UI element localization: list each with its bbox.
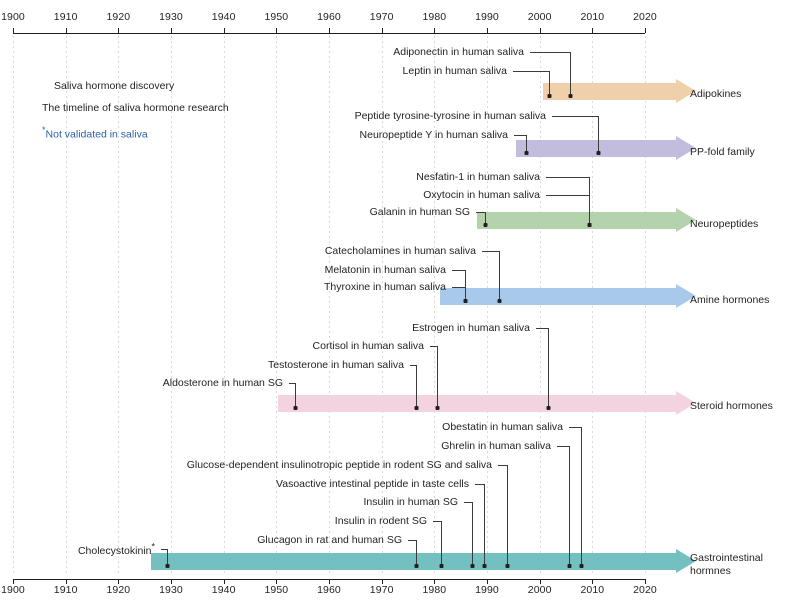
leader-line-horizontal — [557, 446, 569, 447]
timeline-figure: 1900191019201930194019501960197019801990… — [0, 0, 792, 607]
event-marker — [471, 564, 475, 568]
axis-tick-label-2000: 2000 — [528, 584, 552, 596]
event-marker — [415, 406, 419, 410]
category-bar-steroid-hormones — [278, 395, 676, 412]
leader-line-horizontal — [546, 177, 589, 178]
leader-line-horizontal — [476, 212, 485, 213]
axis-tick-label-1900: 1900 — [1, 584, 25, 596]
axis-tick-1950 — [276, 28, 277, 33]
leader-line-vertical — [441, 521, 442, 566]
event-label: Cortisol in human saliva — [0, 340, 424, 352]
leader-line-horizontal — [552, 116, 598, 117]
gridline-2010 — [592, 36, 593, 576]
axis-tick-label-2020: 2020 — [633, 584, 657, 596]
bar-body — [543, 83, 676, 100]
event-marker — [415, 564, 419, 568]
leader-line-vertical — [507, 465, 508, 566]
event-marker — [568, 564, 572, 568]
axis-tick-label-1970: 1970 — [370, 584, 394, 596]
axis-tick-label-1920: 1920 — [106, 584, 130, 596]
axis-tick-2020 — [645, 28, 646, 33]
event-marker — [569, 94, 573, 98]
category-label: Steroid hormones — [690, 400, 773, 413]
event-label: Aldosterone in human SG — [0, 377, 283, 389]
category-bar-gastrointestinal-hormnes — [151, 553, 676, 570]
event-label: Peptide tyrosine-tyrosine in human saliv… — [0, 110, 546, 122]
event-marker — [166, 564, 170, 568]
leader-line-vertical — [569, 446, 570, 566]
axis-tick-label-1950: 1950 — [264, 11, 288, 23]
axis-tick-label-2010: 2010 — [580, 11, 604, 23]
axis-tick-label-1970: 1970 — [370, 11, 394, 23]
axis-tick-1970 — [382, 28, 383, 33]
leader-line-horizontal — [433, 521, 441, 522]
axis-tick-1990 — [487, 28, 488, 33]
leader-line-vertical — [437, 346, 438, 408]
event-marker — [294, 406, 298, 410]
event-label: Cholecystokinin* — [0, 541, 155, 557]
leader-line-horizontal — [452, 287, 465, 288]
bar-body — [151, 553, 676, 570]
event-label: Insulin in rodent SG — [0, 515, 427, 527]
axis-tick-label-2010: 2010 — [580, 584, 604, 596]
axis-tick-label-1980: 1980 — [422, 584, 446, 596]
axis-tick-2010 — [592, 28, 593, 33]
event-label: Vasoactive intestinal peptide in taste c… — [0, 478, 469, 490]
event-label: Ghrelin in human saliva — [0, 440, 551, 452]
event-label: Galanin in human SG — [0, 206, 470, 218]
event-label: Leptin in human saliva — [0, 65, 507, 77]
event-marker — [506, 564, 510, 568]
axis-tick-label-1980: 1980 — [422, 11, 446, 23]
axis-tick-label-1910: 1910 — [54, 11, 78, 23]
event-marker — [483, 564, 487, 568]
leader-line-horizontal — [530, 52, 570, 53]
event-marker — [464, 299, 468, 303]
axis-tick-label-1940: 1940 — [212, 584, 236, 596]
leader-line-vertical — [499, 251, 500, 301]
leader-line-vertical — [472, 502, 473, 566]
leader-line-horizontal — [430, 346, 437, 347]
axis-tick-label-1930: 1930 — [159, 584, 183, 596]
leader-line-horizontal — [536, 328, 548, 329]
event-label: Neuropeptide Y in human saliva — [0, 129, 508, 141]
axis-tick-label-1990: 1990 — [475, 584, 499, 596]
axis-tick-label-1900: 1900 — [1, 11, 25, 23]
axis-tick-1910 — [66, 28, 67, 33]
category-bar-neuropeptides — [477, 212, 676, 229]
axis-tick-label-2020: 2020 — [633, 11, 657, 23]
leader-line-horizontal — [514, 135, 526, 136]
bar-body — [477, 212, 676, 229]
axis-tick-2000 — [540, 28, 541, 33]
event-label: Thyroxine in human saliva — [0, 281, 446, 293]
leader-line-horizontal — [464, 502, 472, 503]
event-label: Testosterone in human saliva — [0, 359, 404, 371]
event-label: Estrogen in human saliva — [0, 322, 530, 334]
category-label: PP-fold family — [690, 146, 755, 159]
leader-line-vertical — [295, 383, 296, 408]
leader-line-vertical — [416, 365, 417, 408]
leader-line-horizontal — [452, 270, 465, 271]
leader-line-horizontal — [498, 465, 507, 466]
event-marker — [440, 564, 444, 568]
leader-line-horizontal — [513, 71, 549, 72]
axis-tick-label-1960: 1960 — [317, 11, 341, 23]
footnote-marker: * — [151, 541, 155, 551]
leader-line-vertical — [598, 116, 599, 153]
leader-line-horizontal — [475, 484, 484, 485]
event-marker — [597, 151, 601, 155]
axis-tick-label-1990: 1990 — [475, 11, 499, 23]
leader-line-vertical — [549, 71, 550, 96]
axis-tick-1920 — [118, 28, 119, 33]
leader-line-vertical — [484, 484, 485, 566]
axis-tick-1960 — [329, 28, 330, 33]
bar-body — [440, 288, 676, 305]
event-marker — [547, 406, 551, 410]
event-marker — [484, 223, 488, 227]
category-bar-adipokines — [543, 83, 676, 100]
axis-tick-1940 — [224, 28, 225, 33]
category-label: Adipokines — [690, 88, 741, 101]
leader-line-vertical — [581, 427, 582, 566]
leader-line-horizontal — [482, 251, 499, 252]
event-label: Catecholamines in human saliva — [0, 245, 476, 257]
bar-body — [278, 395, 676, 412]
axis-tick-label-1910: 1910 — [54, 584, 78, 596]
leader-line-vertical — [416, 540, 417, 566]
leader-line-vertical — [548, 328, 549, 408]
gridline-2020 — [645, 36, 646, 576]
leader-line-horizontal — [569, 427, 581, 428]
event-marker — [548, 94, 552, 98]
axis-tick-label-2000: 2000 — [528, 11, 552, 23]
event-label: Adiponectin in human saliva — [0, 46, 524, 58]
axis-tick-label-1930: 1930 — [159, 11, 183, 23]
axis-tick-label-1950: 1950 — [264, 584, 288, 596]
event-label: Melatonin in human saliva — [0, 264, 446, 276]
event-label-text: Cholecystokinin — [78, 545, 152, 557]
event-marker — [588, 223, 592, 227]
event-marker — [525, 151, 529, 155]
category-label: Neuropeptides — [690, 218, 758, 231]
event-label: Insulin in human SG — [0, 496, 458, 508]
category-label: Amine hormones — [690, 294, 769, 307]
category-bar-amine-hormones — [440, 288, 676, 305]
axis-tick-1900 — [13, 28, 14, 33]
leader-line-horizontal — [408, 540, 416, 541]
figure-title: Saliva hormone discovery — [54, 80, 174, 92]
event-marker — [580, 564, 584, 568]
event-label: Obestatin in human saliva — [0, 421, 563, 433]
axis-tick-1930 — [171, 28, 172, 33]
axis-tick-label-1920: 1920 — [106, 11, 130, 23]
event-label: Nesfatin-1 in human saliva — [0, 171, 540, 183]
event-marker — [498, 299, 502, 303]
axis-tick-label-1940: 1940 — [212, 11, 236, 23]
leader-line-vertical — [589, 195, 590, 225]
leader-line-vertical — [570, 52, 571, 96]
axis-tick-label-1960: 1960 — [317, 584, 341, 596]
event-marker — [436, 406, 440, 410]
axis-line — [13, 33, 645, 34]
event-label: Oxytocin in human saliva — [0, 189, 540, 201]
axis-tick-1980 — [434, 28, 435, 33]
leader-line-horizontal — [546, 195, 589, 196]
event-label: Glucose-dependent insulinotropic peptide… — [0, 459, 492, 471]
category-label: Gastrointestinalhormnes — [690, 552, 763, 578]
